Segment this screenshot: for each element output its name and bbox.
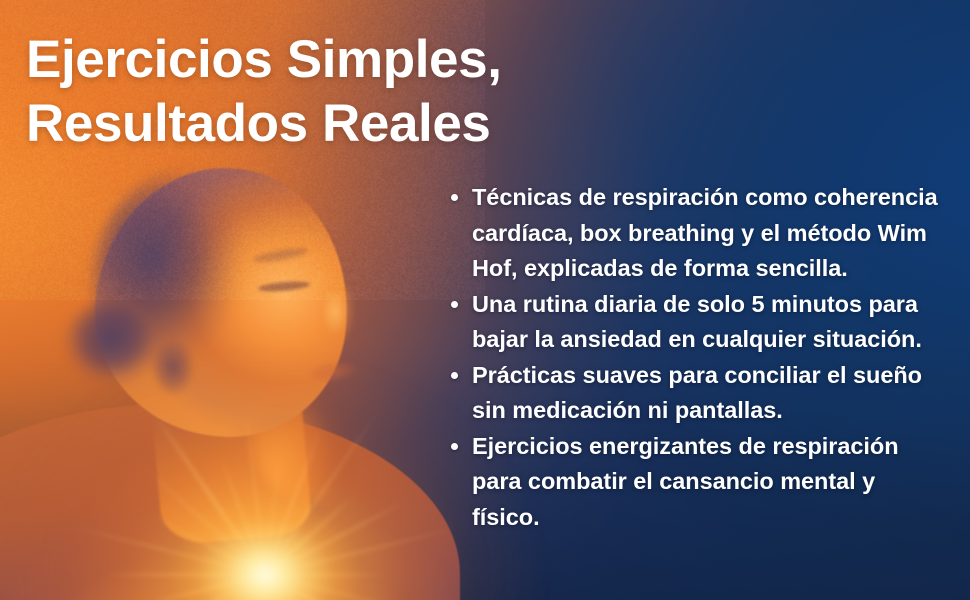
list-item: Ejercicios energizantes de respiración p… [444,429,944,536]
list-item: Técnicas de respiración como coherencia … [444,180,944,287]
list-item-text: Una rutina diaria de solo 5 minutos para… [472,291,922,353]
list-item: Una rutina diaria de solo 5 minutos para… [444,287,944,358]
figure-hair-bun [62,300,156,388]
headline-line-2: Resultados Reales [26,92,646,156]
list-item-text: Técnicas de respiración como coherencia … [472,184,938,281]
promo-banner: Ejercicios Simples, Resultados Reales Té… [0,0,970,600]
list-item-text: Ejercicios energizantes de respiración p… [472,433,899,530]
bullet-dot-icon [451,443,458,450]
page-title: Ejercicios Simples, Resultados Reales [26,28,646,155]
list-item: Prácticas suaves para conciliar el sueño… [444,358,944,429]
bullet-dot-icon [451,372,458,379]
bullet-dot-icon [451,194,458,201]
feature-bullet-list: Técnicas de respiración como coherencia … [444,180,944,535]
list-item-text: Prácticas suaves para conciliar el sueño… [472,362,922,424]
figure-nose [320,282,364,352]
headline-line-1: Ejercicios Simples, [26,28,646,92]
bullet-dot-icon [451,301,458,308]
